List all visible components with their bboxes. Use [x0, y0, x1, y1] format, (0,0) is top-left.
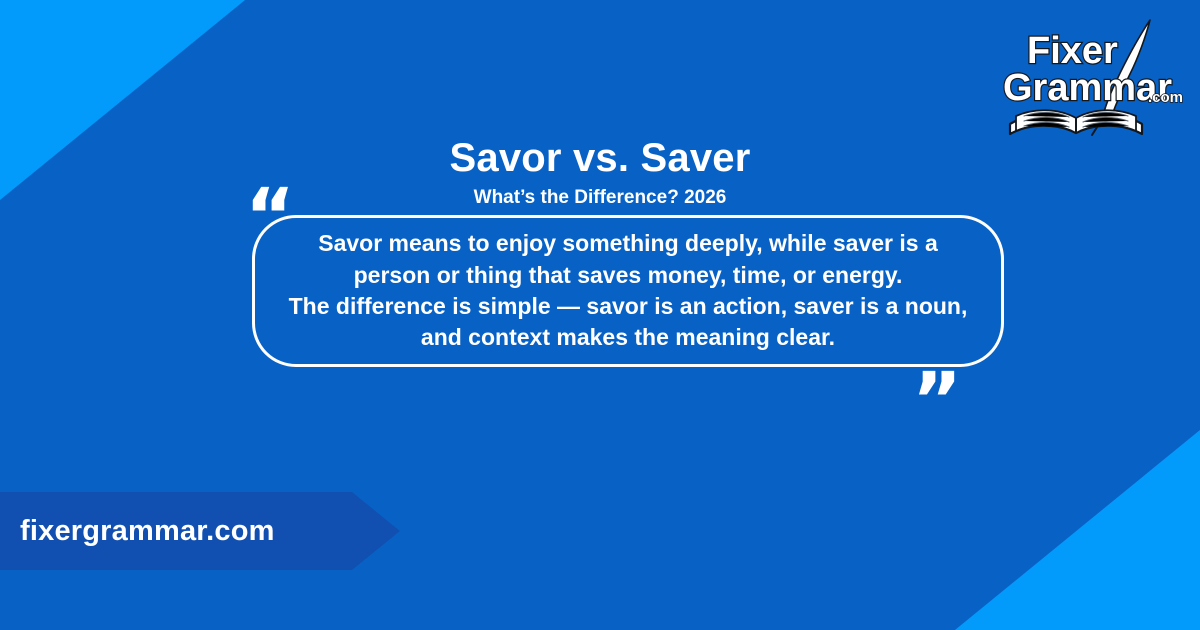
- logo-wordmark: Fixer Grammar .com: [1003, 30, 1183, 109]
- logo-tld: .com: [1148, 89, 1183, 106]
- quote-card: Savor means to enjoy something deeply, w…: [252, 215, 1004, 367]
- bottom-right-accent-triangle: [955, 430, 1200, 630]
- open-book-icon: [1010, 110, 1142, 134]
- quote-close-mark: ”: [912, 362, 962, 438]
- quote-text: Savor means to enjoy something deeply, w…: [255, 228, 1001, 353]
- logo-line1: Fixer: [1027, 30, 1118, 72]
- site-url-text: fixergrammar.com: [0, 515, 275, 548]
- logo-line2: Grammar: [1003, 67, 1172, 109]
- page-title: Savor vs. Saver: [0, 136, 1200, 181]
- page-subtitle: What’s the Difference? 2026: [0, 187, 1200, 210]
- social-card: Fixer Grammar .com S: [0, 0, 1200, 630]
- heading-block: Savor vs. Saver What’s the Difference? 2…: [0, 136, 1200, 210]
- site-url-banner[interactable]: fixergrammar.com: [0, 492, 400, 570]
- site-logo[interactable]: Fixer Grammar .com: [1000, 16, 1186, 142]
